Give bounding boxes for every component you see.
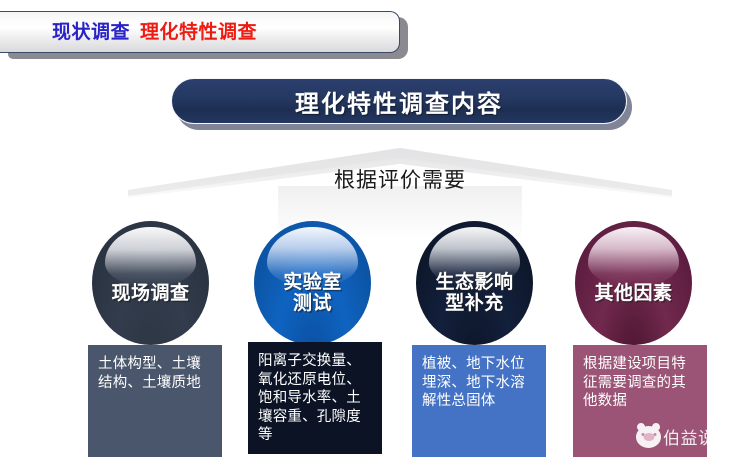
header-title-secondary: 理化特性调查 (140, 22, 257, 43)
caption-box-site-survey: 土体构型、土壤结构、土壤质地 (88, 345, 222, 457)
chevron-label: 根据评价需要 (128, 164, 672, 194)
title-banner: 理化特性调查内容 (171, 78, 627, 124)
circle-label: 其他因素 (594, 262, 672, 305)
header-bar: 现状调查理化特性调查 (0, 11, 400, 53)
circle-eco-impact[interactable]: 生态影响 型补充 (416, 221, 533, 345)
circle-label: 现场调查 (111, 262, 189, 305)
circle-label: 生态影响 型补充 (435, 251, 513, 314)
circle-other-factors[interactable]: 其他因素 (575, 221, 692, 345)
caption-box-lab-testing: 阳离子交换量、氧化还原电位、饱和导水率、土壤容重、孔隙度等 (248, 342, 382, 454)
circle-lab-testing[interactable]: 实验室 测试 (254, 221, 371, 345)
circle-site-survey[interactable]: 现场调查 (92, 221, 209, 345)
caption-box-eco-impact: 植被、地下水位埋深、地下水溶解性总固体 (412, 345, 546, 457)
caption-box-other-factors: 根据建设项目特征需要调查的其他数据 (573, 345, 707, 457)
circle-label: 实验室 测试 (283, 251, 342, 314)
chevron-arrow: 根据评价需要 (128, 146, 672, 241)
header-title-primary: 现状调查 (52, 22, 130, 43)
header-title: 现状调查理化特性调查 (52, 23, 257, 42)
slide-canvas: 现状调查理化特性调查 理化特性调查内容 根据评价需要 (0, 0, 752, 469)
title-banner-text: 理化特性调查内容 (295, 84, 503, 119)
